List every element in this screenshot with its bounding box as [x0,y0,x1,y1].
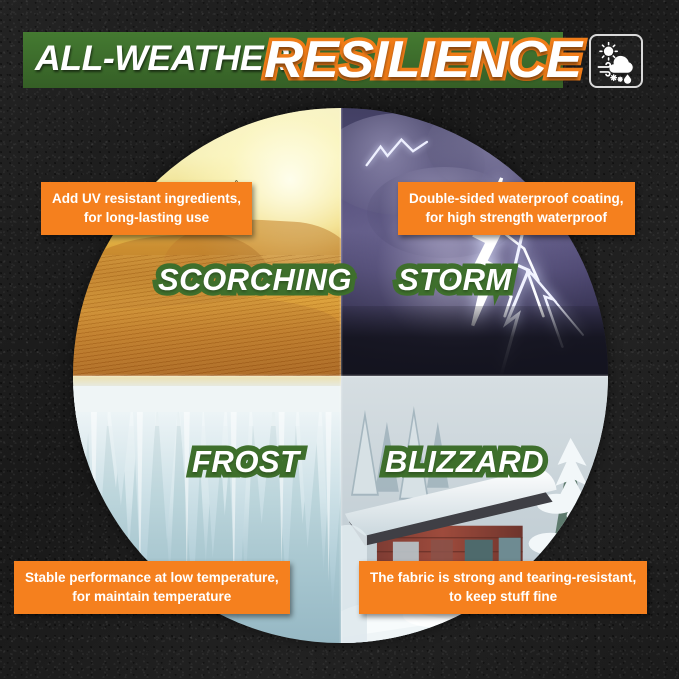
quadrant-storm [341,108,609,376]
section-label-blizzard: BLIZZARD [385,445,544,479]
section-label-frost: FROST [192,445,300,479]
caption-scorching: Add UV resistant ingredients, for long-l… [41,182,252,235]
caption-storm: Double-sided waterproof coating, for hig… [398,182,635,235]
caption-line: Double-sided waterproof coating, [409,189,624,208]
section-label-scorching: SCORCHING [158,263,352,297]
header-banner: ALL-WEATHER RESILIENCE [0,26,679,94]
quadrant-seam-horizontal [73,374,608,377]
lightning-bolt-icon [362,135,432,183]
quadrant-scorching: ∿ [73,108,341,376]
caption-line: for long-lasting use [52,208,241,227]
caption-line: Stable performance at low temperature, [25,568,279,587]
page-title-primary: ALL-WEATHER [35,37,289,81]
caption-line: for maintain temperature [25,587,279,606]
caption-blizzard: The fabric is strong and tearing-resista… [359,561,647,614]
section-label-storm: STORM [398,263,512,297]
caption-line: The fabric is strong and tearing-resista… [370,568,636,587]
caption-line: Add UV resistant ingredients, [52,189,241,208]
weather-icon-badge [589,34,643,88]
storm-treeline [341,306,609,376]
caption-line: to keep stuff fine [370,587,636,606]
page-title-accent: RESILIENCE [264,26,581,94]
caption-frost: Stable performance at low temperature, f… [14,561,290,614]
caption-line: for high strength waterproof [409,208,624,227]
weather-sun-cloud-rain-snow-wind-icon [591,36,641,86]
